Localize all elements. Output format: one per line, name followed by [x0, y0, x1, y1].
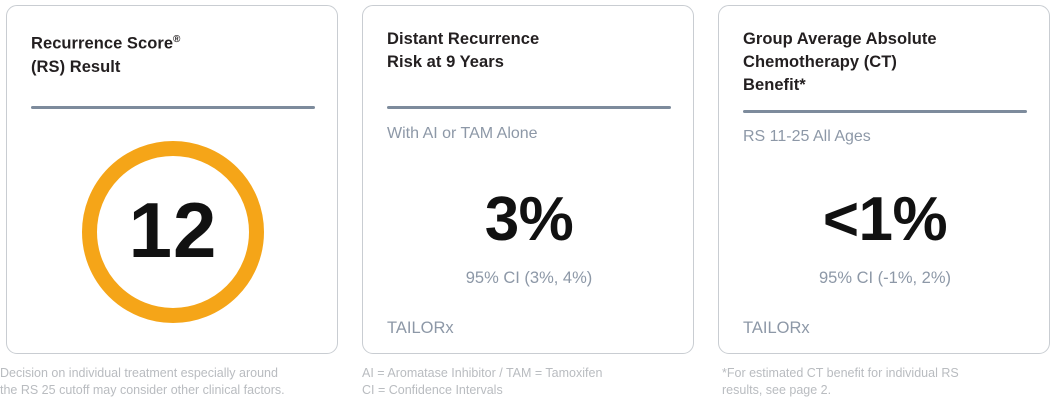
recurrence-score-value: 12	[82, 141, 264, 323]
distant-recurrence-source: TAILORx	[387, 318, 454, 338]
distant-recurrence-value: 3%	[387, 189, 671, 251]
card-content: Recurrence Score®(RS) Result 12	[31, 6, 315, 353]
card-content: Group Average Absolute Chemotherapy (CT)…	[743, 6, 1027, 353]
footnote-abbreviations: AI = Aromatase Inhibitor / TAM = Tamoxif…	[362, 365, 696, 399]
card-title-distant-recurrence: Distant Recurrence Risk at 9 Years	[387, 28, 671, 74]
card-content: Distant Recurrence Risk at 9 Years With …	[387, 6, 671, 353]
chemotherapy-benefit-card[interactable]: Group Average Absolute Chemotherapy (CT)…	[718, 5, 1050, 354]
chemotherapy-benefit-source: TAILORx	[743, 318, 810, 338]
recurrence-report-panel: Recurrence Score®(RS) Result 12 Decision…	[0, 0, 1056, 408]
card-title-chemotherapy-benefit: Group Average Absolute Chemotherapy (CT)…	[743, 28, 1027, 97]
card-title-line-1: Recurrence Score	[31, 35, 173, 53]
chemotherapy-benefit-value: <1%	[743, 189, 1027, 251]
title-divider	[387, 106, 671, 109]
distant-recurrence-column: Distant Recurrence Risk at 9 Years With …	[362, 0, 696, 408]
title-divider	[31, 106, 315, 109]
footnote-recurrence-score: Decision on individual treatment especia…	[0, 365, 340, 399]
chemotherapy-benefit-subtitle: RS 11-25 All Ages	[743, 127, 1027, 147]
distant-recurrence-subtitle: With AI or TAM Alone	[387, 124, 671, 144]
distant-recurrence-confidence-interval: 95% CI (3%, 4%)	[387, 268, 671, 288]
footnote-ct-benefit: *For estimated CT benefit for individual…	[722, 365, 1052, 399]
card-title-recurrence-score: Recurrence Score®(RS) Result	[31, 28, 315, 79]
chemotherapy-benefit-confidence-interval: 95% CI (-1%, 2%)	[743, 268, 1027, 288]
recurrence-score-card[interactable]: Recurrence Score®(RS) Result 12	[6, 5, 338, 354]
score-ring-gauge: 12	[82, 141, 264, 323]
registered-trademark-icon: ®	[173, 34, 180, 45]
chemotherapy-benefit-column: Group Average Absolute Chemotherapy (CT)…	[718, 0, 1052, 408]
recurrence-score-column: Recurrence Score®(RS) Result 12 Decision…	[6, 0, 340, 408]
card-title-line-2: (RS) Result	[31, 58, 120, 76]
title-divider	[743, 110, 1027, 113]
distant-recurrence-card[interactable]: Distant Recurrence Risk at 9 Years With …	[362, 5, 694, 354]
